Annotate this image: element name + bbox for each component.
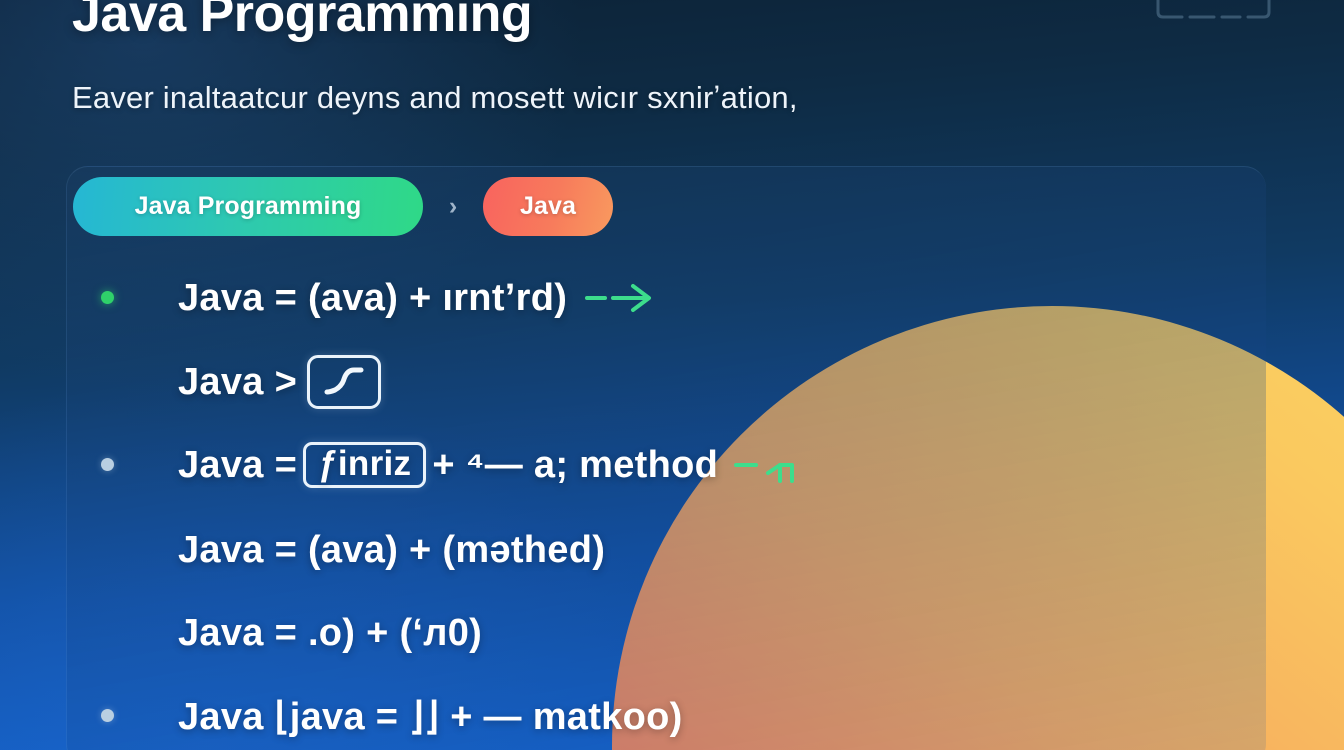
bracket-connector-icon [1152, 0, 1280, 32]
breadcrumb: Java Programming › Java [73, 176, 613, 236]
equation-text-after: + ⁴— a; method [432, 444, 718, 487]
arrow-right-icon [585, 279, 655, 317]
page-title: Java Programming [72, 0, 532, 44]
return-hook-icon [734, 445, 804, 485]
equation-token-box: ƒinriz [303, 442, 426, 488]
equation-line: Java = (ava) + (məthed) [178, 522, 605, 578]
list-bullet-grey [101, 458, 114, 471]
equation-line: Java = (ava) + ırntʼrd) [178, 270, 655, 326]
slide-canvas: Java Programming Eaver inaltaatcur deyns… [0, 0, 1344, 750]
equation-line: Java = .o) + (ʻл0) [178, 605, 482, 661]
equation-text: Java ⌊java = ⌋⌋ + — matkoo) [178, 694, 683, 739]
equation-text: Java > [178, 361, 297, 404]
list-bullet-grey [101, 709, 114, 722]
equation-line: Java > [178, 354, 381, 410]
breadcrumb-item-java[interactable]: Java [483, 177, 613, 236]
chevron-right-icon: › [423, 192, 483, 221]
equation-text: Java = (ava) + (məthed) [178, 529, 605, 572]
equation-text: Java = .o) + (ʻл0) [178, 612, 482, 655]
list-bullet-green [101, 291, 114, 304]
equation-line: Java ⌊java = ⌋⌋ + — matkoo) [178, 688, 683, 744]
s-curve-box-icon [307, 355, 381, 409]
breadcrumb-item-java-programming[interactable]: Java Programming [73, 177, 423, 236]
equation-line: Java = ƒinriz + ⁴— a; method [178, 437, 804, 493]
page-subtitle: Eaver inaltaatcur deyns and mosett wicır… [72, 80, 798, 116]
equation-text: Java = (ava) + ırntʼrd) [178, 277, 567, 320]
equation-text: Java = [178, 444, 297, 487]
